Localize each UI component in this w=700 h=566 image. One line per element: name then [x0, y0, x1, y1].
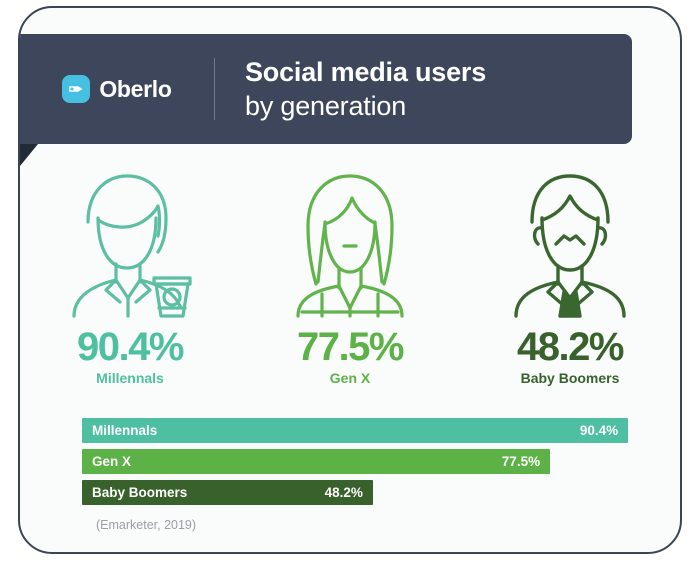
- title-line-2: by generation: [245, 89, 486, 123]
- bar-fill-gen-x: Gen X 77.5%: [82, 449, 550, 474]
- bar-value-millennals: 90.4%: [580, 423, 618, 438]
- stat-percent-baby-boomers: 48.2%: [517, 326, 623, 368]
- stat-percent-millennals: 90.4%: [77, 326, 183, 368]
- banner-ribbon-fold: [20, 144, 38, 166]
- stat-label-millennals: Millennals: [96, 370, 164, 386]
- bar-label-millennals: Millennals: [92, 423, 157, 438]
- bar-row-baby-boomers: Baby Boomers 48.2%: [82, 480, 648, 505]
- bar-row-millennals: Millennals 90.4%: [82, 418, 648, 443]
- stat-label-baby-boomers: Baby Boomers: [521, 370, 620, 386]
- page-title: Social media users by generation: [215, 55, 486, 123]
- bar-value-gen-x: 77.5%: [502, 454, 540, 469]
- stat-column-gen-x: 77.5% Gen X: [240, 158, 460, 386]
- header-banner: Oberlo Social media users by generation: [18, 34, 632, 144]
- bar-value-baby-boomers: 48.2%: [325, 485, 363, 500]
- stats-row: 90.4% Millennals: [20, 158, 680, 386]
- brand-name: Oberlo: [99, 76, 171, 103]
- young-person-with-coffee-icon: [62, 158, 198, 318]
- source-note: (Emarketer, 2019): [96, 518, 196, 532]
- woman-with-necklace-icon: [282, 158, 418, 318]
- stat-label-gen-x: Gen X: [330, 370, 370, 386]
- infographic-card: Oberlo Social media users by generation: [18, 6, 682, 554]
- brand-block: Oberlo: [18, 75, 214, 103]
- oberlo-tag-logo-icon: [62, 75, 90, 103]
- older-man-with-tie-icon: [502, 158, 638, 318]
- bar-fill-baby-boomers: Baby Boomers 48.2%: [82, 480, 373, 505]
- title-line-1: Social media users: [245, 55, 486, 89]
- stat-percent-gen-x: 77.5%: [297, 326, 403, 368]
- bar-label-baby-boomers: Baby Boomers: [92, 485, 187, 500]
- bar-chart: Millennals 90.4% Gen X 77.5% Baby Boomer…: [82, 418, 648, 511]
- stat-column-millennals: 90.4% Millennals: [20, 158, 240, 386]
- bar-label-gen-x: Gen X: [92, 454, 131, 469]
- stat-column-baby-boomers: 48.2% Baby Boomers: [460, 158, 680, 386]
- bar-row-gen-x: Gen X 77.5%: [82, 449, 648, 474]
- bar-fill-millennals: Millennals 90.4%: [82, 418, 628, 443]
